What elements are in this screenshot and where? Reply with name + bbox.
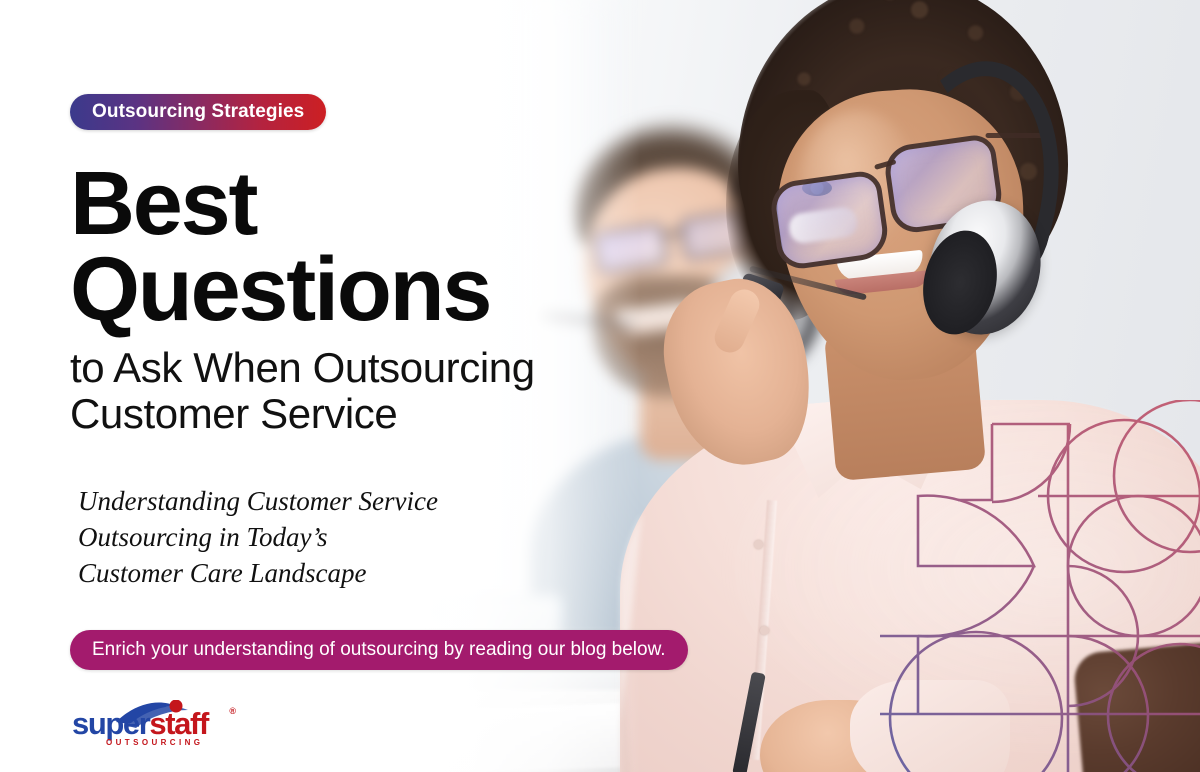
subhead-line-1: to Ask When Outsourcing [70,345,670,391]
tagline-line-1: Understanding Customer Service [78,484,638,520]
cta-label: Enrich your understanding of outsourcing… [92,639,666,661]
logo-wordmark: superstaff [72,708,208,739]
logo-word-staff: staff [149,706,207,741]
tagline-line-2: Outsourcing in Today’s [78,520,638,556]
category-badge-label: Outsourcing Strategies [92,101,304,123]
headline-line-1: Best [70,162,670,248]
tagline: Understanding Customer Service Outsourci… [78,484,638,592]
page-title: Best Questions [70,162,670,333]
page-subtitle: to Ask When Outsourcing Customer Service [70,345,670,437]
marketing-banner: Outsourcing Strategies Best Questions to… [0,0,1200,772]
logo-subtext: OUTSOURCING [106,738,203,747]
subhead-line-2: Customer Service [70,391,670,437]
banner-content: Outsourcing Strategies Best Questions to… [0,0,1200,772]
category-badge[interactable]: Outsourcing Strategies [70,94,326,130]
headline-line-2: Questions [70,248,670,334]
logo-registered-mark: ® [229,706,236,716]
tagline-line-3: Customer Care Landscape [78,556,638,592]
logo-word-super: super [72,706,149,741]
cta-button[interactable]: Enrich your understanding of outsourcing… [70,630,688,670]
superstaff-logo[interactable]: superstaff ® OUTSOURCING [72,700,234,746]
